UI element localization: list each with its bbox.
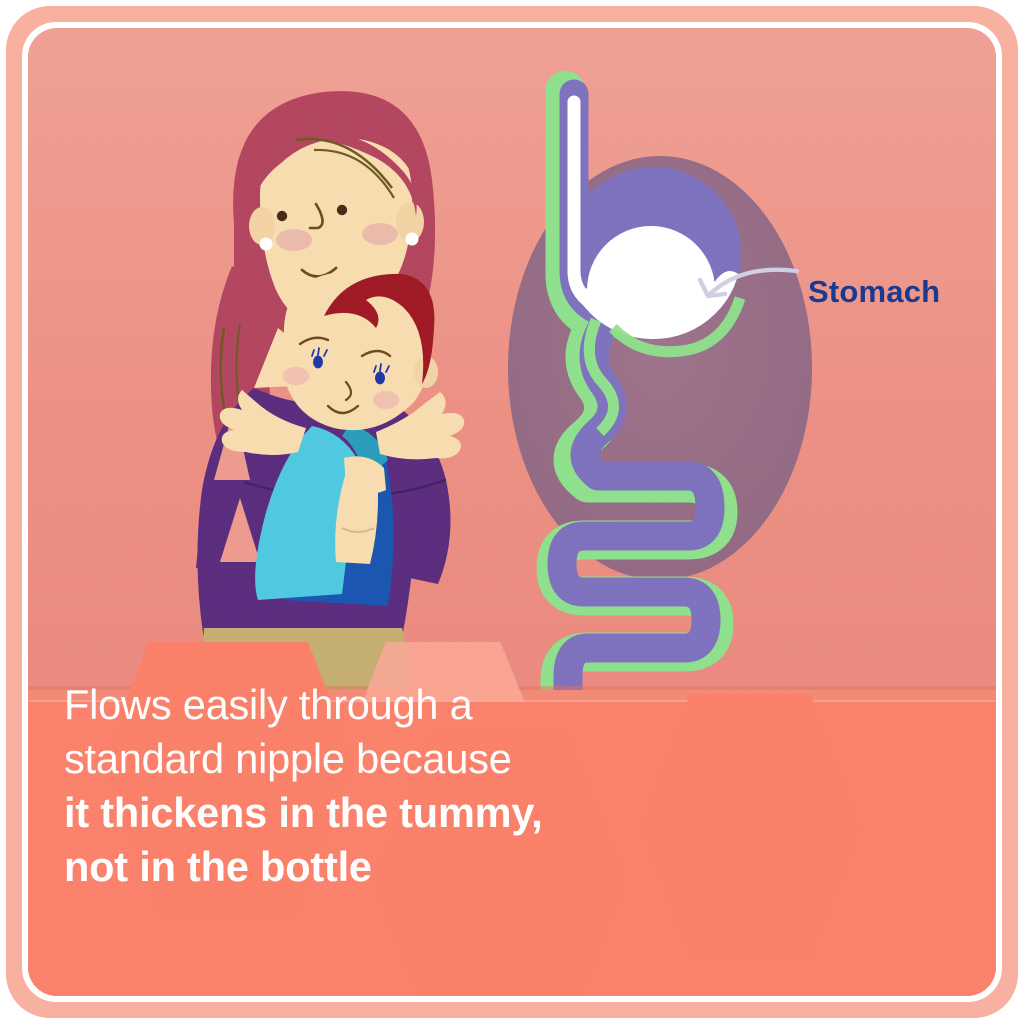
mother-eye-left xyxy=(277,211,287,221)
caption-band: Flows easily through a standard nipple b… xyxy=(28,642,996,996)
stomach-label: Stomach xyxy=(808,274,940,310)
infographic-card: Stomach xyxy=(0,0,1024,1024)
caption-line-1: Flows easily through a xyxy=(64,678,764,732)
caption-line-3: it thickens in the tummy, xyxy=(64,786,764,840)
baby-blush-right xyxy=(373,391,399,409)
illustration-stage: Stomach xyxy=(28,28,996,996)
caption-line-2: standard nipple because xyxy=(64,732,764,786)
baby-blush-left xyxy=(283,367,309,385)
mother-eye-right xyxy=(337,205,347,215)
mother-blush-right xyxy=(362,223,398,245)
caption-text-block: Flows easily through a standard nipple b… xyxy=(64,678,764,894)
caption-line-4: not in the bottle xyxy=(64,840,764,894)
mother-earring-right xyxy=(406,233,419,246)
mother-blush-left xyxy=(276,229,312,251)
mother-earring-left xyxy=(260,238,273,251)
